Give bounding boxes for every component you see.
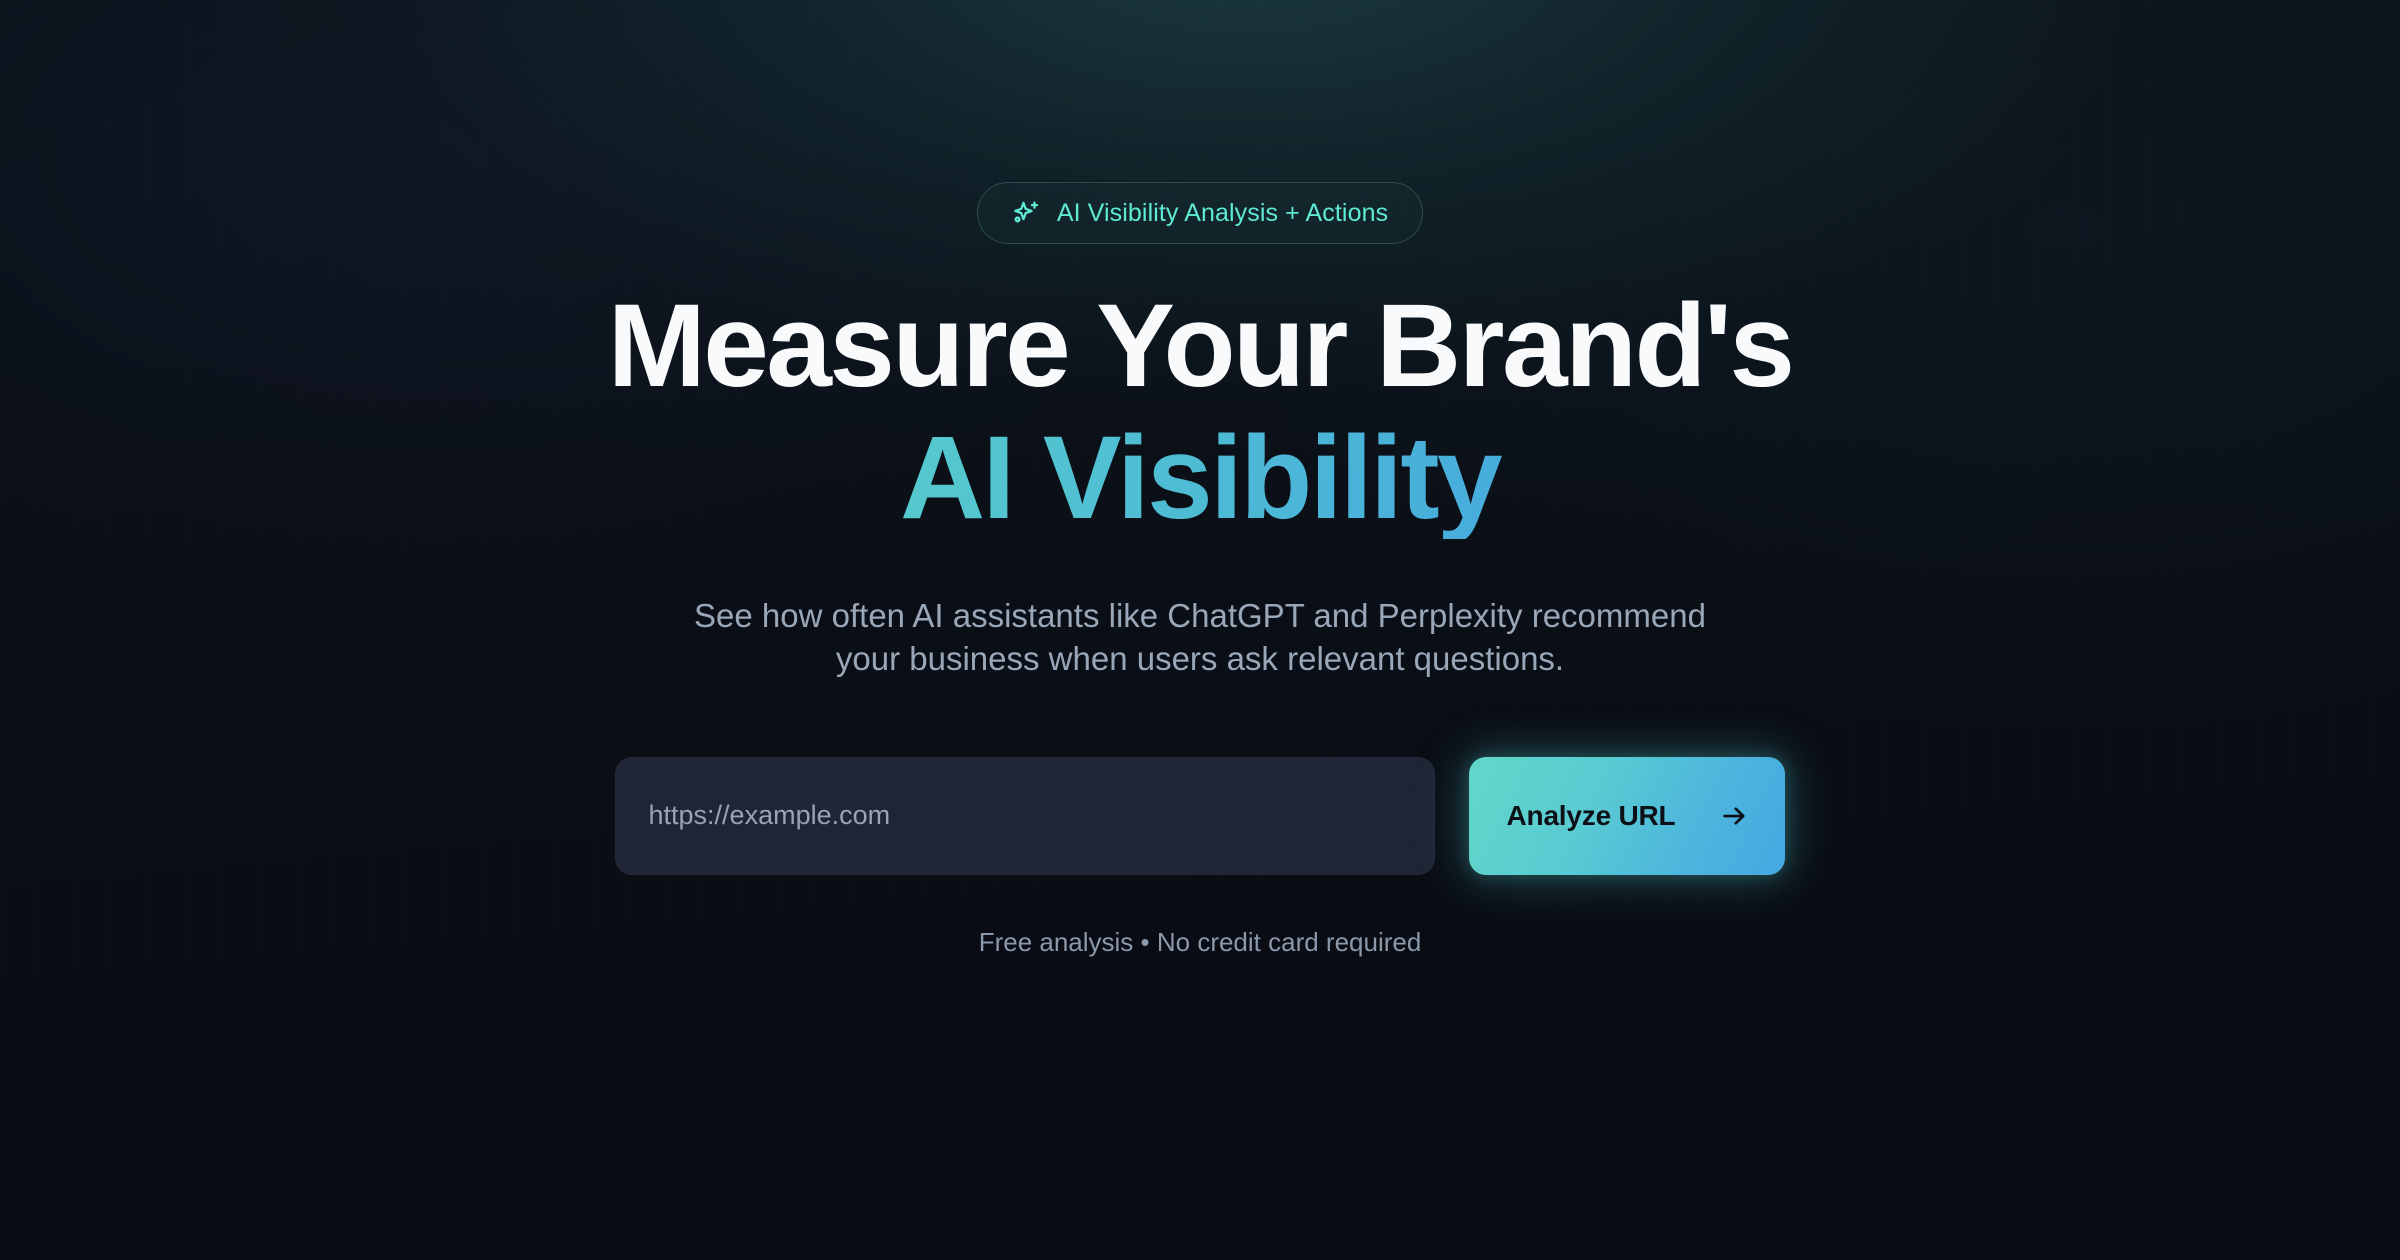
hero-section: AI Visibility Analysis + Actions Measure… <box>0 0 2400 1260</box>
analyze-url-button[interactable]: Analyze URL <box>1469 757 1786 875</box>
page-background: AI Visibility Analysis + Actions Measure… <box>0 0 2400 1260</box>
headline-line-accent: AI Visibility <box>608 418 1793 540</box>
url-analysis-form: Analyze URL <box>615 757 1786 875</box>
analyze-url-button-label: Analyze URL <box>1507 802 1676 830</box>
hero-badge-label: AI Visibility Analysis + Actions <box>1057 201 1388 226</box>
hero-badge: AI Visibility Analysis + Actions <box>977 182 1423 244</box>
hero-subtitle-line-2: your business when users ask relevant qu… <box>694 638 1706 681</box>
page-title: Measure Your Brand's AI Visibility <box>608 286 1793 539</box>
arrow-right-icon <box>1719 801 1749 831</box>
sparkles-icon <box>1012 199 1041 228</box>
form-footnote: Free analysis • No credit card required <box>979 927 1422 958</box>
url-input[interactable] <box>615 757 1435 875</box>
hero-subtitle: See how often AI assistants like ChatGPT… <box>694 595 1706 681</box>
headline-line-primary: Measure Your Brand's <box>608 286 1793 408</box>
hero-subtitle-line-1: See how often AI assistants like ChatGPT… <box>694 595 1706 638</box>
